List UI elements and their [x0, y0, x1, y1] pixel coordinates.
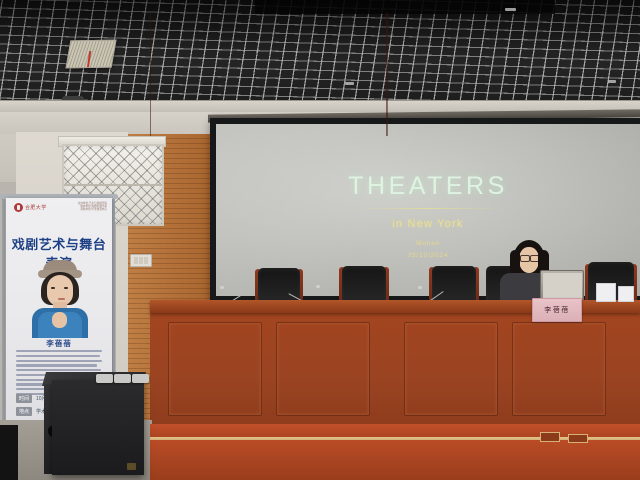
speaker-top-item-2[interactable] — [114, 374, 131, 383]
banner-speaker-portrait — [30, 260, 90, 336]
laptop-screen — [543, 273, 582, 300]
vent-indicator-icon — [87, 51, 91, 67]
banner-speaker-name: 李蓓蓓 — [6, 338, 112, 349]
desk-panel-3 — [404, 322, 498, 416]
speaker-top-item-3[interactable] — [132, 374, 149, 383]
window-mullion — [64, 184, 162, 186]
speaker-brand-badge — [127, 463, 136, 470]
banner-place-tag: 地点 — [16, 407, 32, 416]
portrait-eye-right — [64, 287, 68, 289]
desk-panel-2 — [276, 322, 370, 416]
banner-organizer-block: 主办单位:艺术与传媒学院 协办单位:戏剧影视学系 承办单位:学术交流中心 — [78, 203, 107, 212]
university-crest-icon — [14, 203, 23, 212]
chair-2-backrest — [342, 266, 386, 302]
speaker-cabinet — [52, 380, 144, 475]
desk-panel-1 — [168, 322, 262, 416]
desk-segment-right — [386, 13, 640, 136]
ceiling-light-b — [505, 8, 516, 11]
speaker-top-item-1[interactable] — [96, 374, 113, 383]
banner-time-tag: 时间 — [16, 394, 32, 403]
lecture-hall-photo: 合肥大学 主办单位:艺术与传媒学院 协办单位:戏剧影视学系 承办单位:学术交流中… — [0, 0, 640, 480]
banner-stand-left — [2, 196, 5, 442]
portrait-eye-left — [51, 287, 55, 289]
stage-floor-outlet-b — [568, 434, 588, 443]
wall-switch-panel[interactable] — [130, 254, 152, 267]
chair-3-backrest — [432, 266, 476, 302]
desk-nameplate: 李蓓蓓 — [532, 298, 582, 322]
banner-logo: 合肥大学 — [14, 203, 47, 212]
chair-2[interactable] — [342, 266, 386, 302]
stage-lower-face — [150, 440, 640, 480]
stage-floor-outlet-a — [540, 432, 560, 442]
banner-meta-line-3: 承办单位:学术交流中心 — [78, 209, 107, 212]
banner-logo-text: 合肥大学 — [25, 204, 47, 211]
microphone-1-capsule — [220, 286, 224, 289]
air-vent-icon — [65, 40, 116, 69]
microphone-3-capsule — [418, 286, 422, 289]
portrait-mouth — [58, 298, 65, 300]
microphone-2-capsule — [316, 285, 320, 288]
desk-segment-left — [150, 13, 388, 136]
stage-left-shadow — [0, 425, 18, 480]
desk-paper-left[interactable] — [596, 283, 616, 302]
chair-3[interactable] — [432, 266, 476, 302]
portrait-hand — [52, 312, 67, 328]
desk-paper-right[interactable] — [618, 286, 634, 302]
desk-panel-4 — [512, 322, 606, 416]
presenter-glasses-left — [520, 255, 530, 262]
